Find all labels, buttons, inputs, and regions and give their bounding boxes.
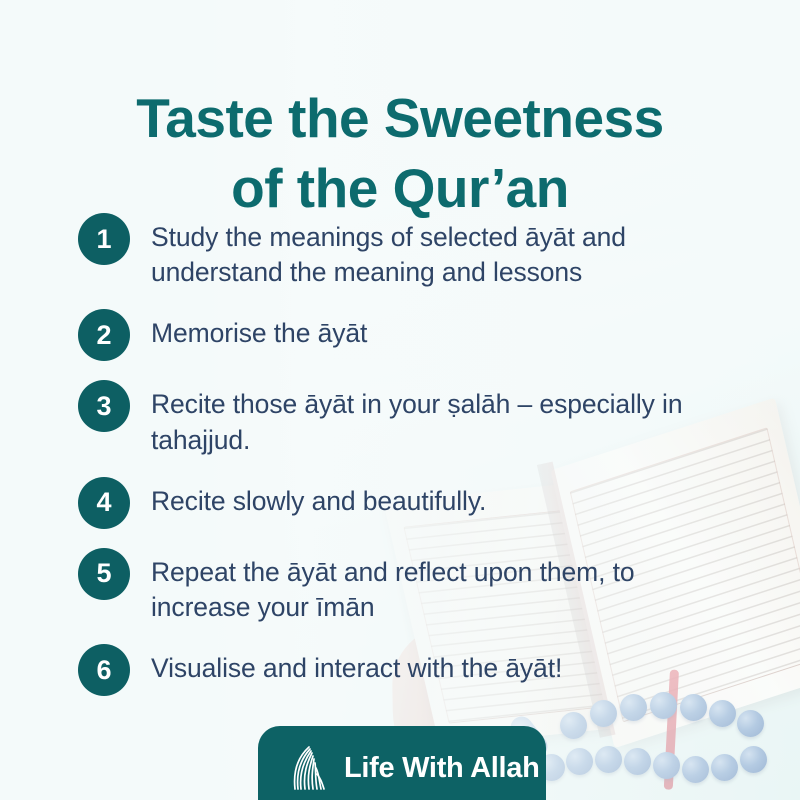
step-number-badge: 3	[78, 380, 130, 432]
step-text: Recite slowly and beautifully.	[151, 476, 718, 519]
list-item: 4 Recite slowly and beautifully.	[78, 476, 718, 529]
list-item: 3 Recite those āyāt in your ṣalāh – espe…	[78, 379, 718, 457]
list-item: 2 Memorise the āyāt	[78, 308, 718, 361]
brand-name-label: Life With Allah	[344, 752, 540, 785]
page-title: Taste the Sweetness of the Qur’an	[0, 83, 800, 224]
step-number-badge: 4	[78, 477, 130, 529]
poster-content: Taste the Sweetness of the Qur’an 1 Stud…	[0, 0, 800, 800]
steps-list: 1 Study the meanings of selected āyāt an…	[78, 212, 718, 714]
step-number-badge: 6	[78, 644, 130, 696]
step-text: Repeat the āyāt and reflect upon them, t…	[151, 547, 718, 625]
page-title-line-1: Taste the Sweetness	[60, 83, 740, 153]
brand-badge: Life With Allah	[258, 726, 546, 800]
list-item: 5 Repeat the āyāt and reflect upon them,…	[78, 547, 718, 625]
step-text: Memorise the āyāt	[151, 308, 718, 351]
leaf-flame-icon	[290, 745, 328, 791]
step-number-badge: 2	[78, 309, 130, 361]
step-text: Visualise and interact with the āyāt!	[151, 643, 718, 686]
list-item: 6 Visualise and interact with the āyāt!	[78, 643, 718, 696]
step-number-badge: 5	[78, 548, 130, 600]
step-text: Study the meanings of selected āyāt and …	[151, 212, 718, 290]
step-number-badge: 1	[78, 213, 130, 265]
step-text: Recite those āyāt in your ṣalāh – especi…	[151, 379, 718, 457]
poster-canvas: Taste the Sweetness of the Qur’an 1 Stud…	[0, 0, 800, 800]
list-item: 1 Study the meanings of selected āyāt an…	[78, 212, 718, 290]
